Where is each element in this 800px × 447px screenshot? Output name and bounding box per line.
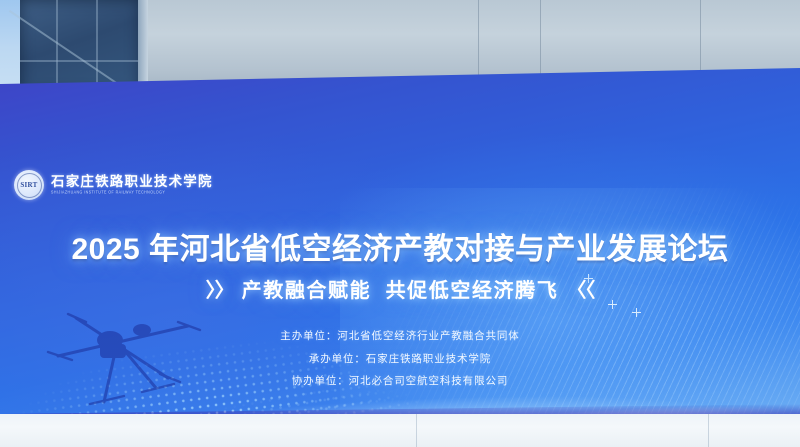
emblem-glyph: SIRT xyxy=(14,181,44,189)
banner-subtitle: 〉〉产教融合赋能 共促低空经济腾飞〈〈 xyxy=(0,274,800,303)
building-glass-facade xyxy=(20,0,140,94)
subtitle-text-left: 产教融合赋能 xyxy=(242,280,372,302)
window-mullion xyxy=(56,0,58,94)
institution-name-cn: 石家庄铁路职业技术学院 xyxy=(51,175,213,189)
banner-title: 2025 年河北省低空经济产教对接与产业发展论坛 xyxy=(0,224,800,268)
organizer-line-coorganizer: 协办单位：河北必合司空航空科技有限公司 xyxy=(0,370,800,393)
forum-banner: SIRT 石家庄铁路职业技术学院 SHIJIAZHUANG INSTITUTE … xyxy=(0,68,800,420)
event-banner-scene: SIRT 石家庄铁路职业技术学院 SHIJIAZHUANG INSTITUTE … xyxy=(0,0,800,447)
subtitle-text-right: 共促低空经济腾飞 xyxy=(386,280,559,302)
organizer-line-undertaker: 承办单位：石家庄铁路职业技术学院 xyxy=(0,348,800,371)
floor-seam xyxy=(708,414,709,447)
institution-name-en: SHIJIAZHUANG INSTITUTE OF RAILWAY TECHNO… xyxy=(51,191,213,195)
window-mullion xyxy=(96,0,98,94)
chevron-left-icon: 〈〈 xyxy=(566,280,594,302)
organizer-line-host: 主办单位：河北省低空经济行业产教融合共同体 xyxy=(0,325,800,348)
sparkle-icon xyxy=(632,308,637,313)
floor-surface xyxy=(0,414,800,447)
organizer-list: 主办单位：河北省低空经济行业产教融合共同体 承办单位：石家庄铁路职业技术学院 协… xyxy=(0,325,800,393)
floor-seam xyxy=(416,414,417,447)
institution-name-block: 石家庄铁路职业技术学院 SHIJIAZHUANG INSTITUTE OF RA… xyxy=(51,175,213,195)
institution-emblem-icon: SIRT xyxy=(14,170,44,200)
institution-logo: SIRT 石家庄铁路职业技术学院 SHIJIAZHUANG INSTITUTE … xyxy=(14,170,213,200)
chevron-right-icon: 〉〉 xyxy=(206,280,234,302)
